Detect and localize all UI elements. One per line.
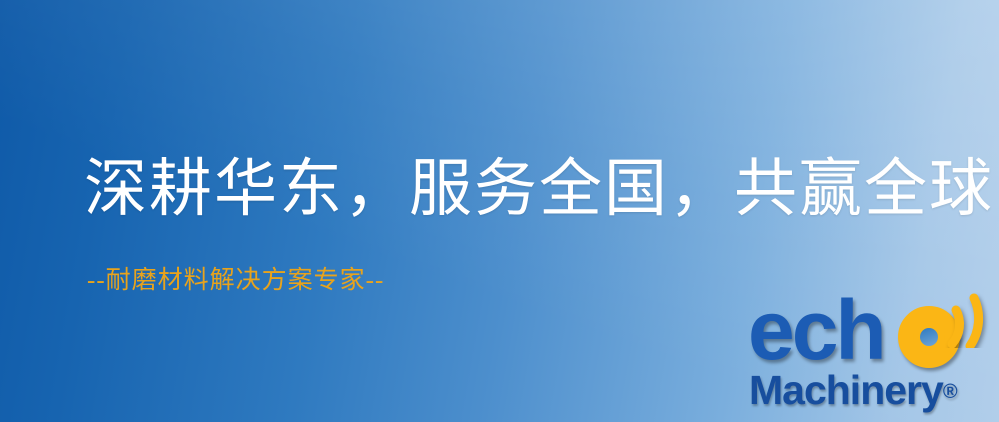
- logo-tagline-text: Machinery: [749, 367, 943, 413]
- hero-banner: 深耕华东，服务全国，共赢全球 --耐磨材料解决方案专家-- ech Machin…: [0, 0, 999, 422]
- registered-trademark-icon: ®: [943, 381, 958, 403]
- page-title: 深耕华东，服务全国，共赢全球: [84, 152, 994, 226]
- echo-machinery-logo[interactable]: ech Machinery®: [748, 288, 996, 416]
- signal-waves-icon: [944, 290, 999, 348]
- logo-wordmark: ech: [748, 288, 884, 372]
- page-subtitle: --耐磨材料解决方案专家--: [87, 266, 384, 296]
- logo-tagline: Machinery®: [749, 368, 958, 414]
